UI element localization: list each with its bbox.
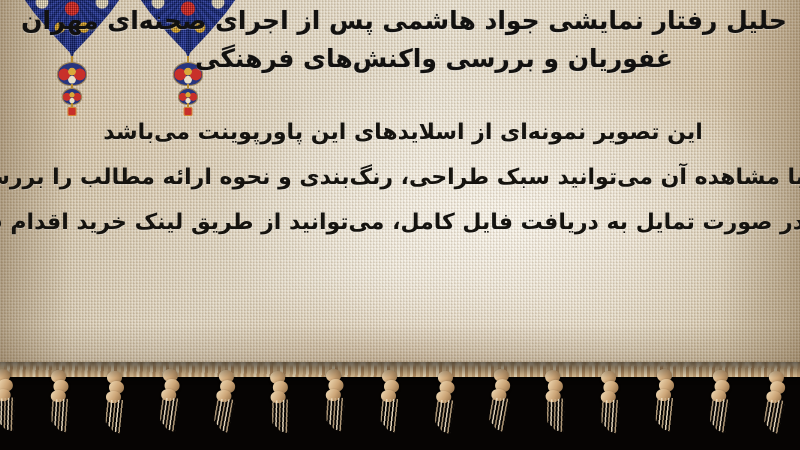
tassel	[267, 370, 294, 434]
tassel-fray	[269, 399, 294, 435]
tassel	[48, 370, 72, 433]
tassel-fray	[158, 398, 181, 433]
tassel	[158, 369, 182, 432]
tassel	[654, 369, 676, 431]
slide-text-layer: حلیل رفتار نمایشی جواد هاشمی پس از اجرای…	[0, 0, 800, 378]
slide-canvas: حلیل رفتار نمایشی جواد هاشمی پس از اجرای…	[0, 0, 800, 450]
tassel-fray	[324, 398, 347, 433]
slide-body: این تصویر نمونه‌ای از اسلایدهای این پاور…	[0, 110, 800, 245]
tassel-fray	[212, 398, 237, 434]
body-line-3: در صورت تمایل به دریافت فایل کامل، می‌تو…	[0, 200, 800, 245]
tassel-fray	[433, 400, 456, 435]
tassel	[433, 371, 457, 434]
tassel-fray	[104, 400, 126, 434]
body-line-2: با مشاهده آن می‌توانید سبک طراحی، رنگ‌بن…	[0, 155, 800, 200]
tassel	[708, 370, 732, 433]
title-line-1: حلیل رفتار نمایشی جواد هاشمی پس از اجرای…	[0, 2, 800, 40]
carpet-tassel-fringe	[0, 362, 800, 450]
tassel-fray	[0, 397, 18, 433]
tassel	[212, 369, 239, 433]
tassel-fray	[762, 399, 787, 435]
tassel-fray	[487, 397, 512, 433]
tassel-fray	[49, 399, 72, 434]
title-line-2: غفوریان و بررسی واکنش‌های فرهنگی	[0, 40, 800, 78]
tassel-fray	[599, 400, 622, 435]
tassel-fray	[544, 398, 569, 434]
tassel	[379, 370, 401, 432]
tassel	[0, 368, 18, 432]
tassel	[542, 369, 569, 433]
tassel	[323, 369, 347, 432]
tassel	[104, 371, 126, 433]
body-line-1: این تصویر نمونه‌ای از اسلایدهای این پاور…	[0, 110, 800, 155]
tassel-fray	[654, 398, 676, 432]
tassel-fray	[379, 399, 401, 433]
tassel	[487, 368, 514, 432]
tassel	[762, 370, 789, 434]
tassel	[598, 371, 622, 434]
slide-title: حلیل رفتار نمایشی جواد هاشمی پس از اجرای…	[0, 2, 800, 78]
tassel-fray	[708, 399, 731, 434]
